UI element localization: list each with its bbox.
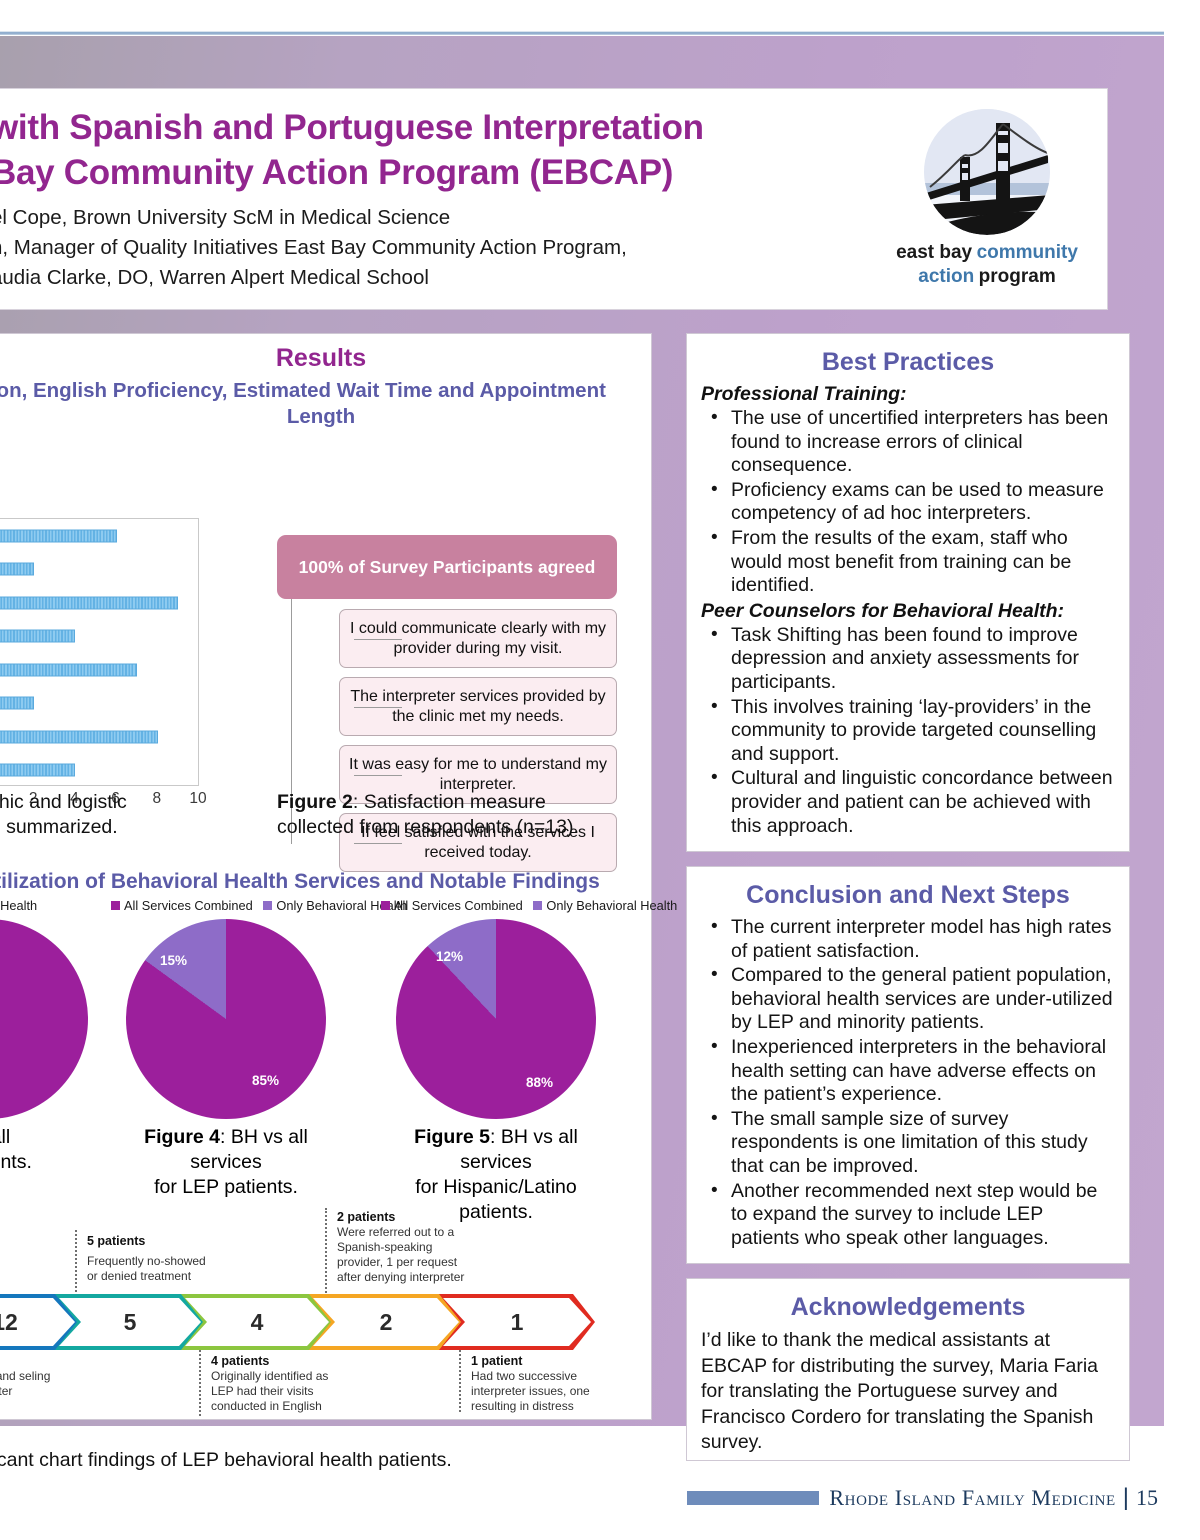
- bar-chart-bar: [0, 630, 75, 643]
- figure-4-small-slice-label: 15%: [160, 953, 187, 968]
- figure-4-pie: 15% 85%: [126, 919, 326, 1119]
- funnel-stage-inner: 1: [443, 1298, 591, 1346]
- conclusion-title: Conclusion and Next Steps: [701, 881, 1115, 910]
- conclusion-bullet: Another recommended next step would be t…: [705, 1180, 1115, 1251]
- best-practices-bullet: From the results of the exam, staff who …: [705, 527, 1115, 598]
- footer-journal-name: Rhode Island Family Medicine: [829, 1485, 1115, 1511]
- survey-agreement-header: 100% of Survey Participants agreed: [277, 535, 617, 599]
- results-title: Results: [0, 344, 651, 373]
- acknowledgements-body: I’d like to thank the medical assistants…: [701, 1328, 1115, 1456]
- funnel-stage-value: 1: [511, 1309, 524, 1336]
- figure-5-small-slice-label: 12%: [436, 949, 463, 964]
- acknowledgements-panel: Acknowledgements I’d like to thank the m…: [686, 1278, 1130, 1461]
- funnel-note-2-body: Were referred out to a Spanish-speaking …: [337, 1225, 469, 1285]
- results-row-one: ggosteded 0246810 100% of Survey Partici…: [0, 430, 651, 790]
- funnel-stage-inner: 12: [0, 1298, 75, 1346]
- bar-chart-bar: [0, 563, 34, 576]
- funnel-note-2: 2 patients Were referred out to a Spanis…: [337, 1210, 469, 1285]
- funnel-stage: 4: [181, 1294, 333, 1350]
- flow-connector-horizontal: [354, 639, 402, 640]
- bar-chart-category-row: d: [0, 687, 198, 721]
- figure-5-legend-b: Only Behavioral Health: [546, 898, 677, 913]
- funnel-stage-inner: 5: [59, 1298, 201, 1346]
- bar-chart-bar: [0, 663, 137, 676]
- figure-4-legend: All Services Combined Only Behavioral He…: [111, 898, 341, 913]
- funnel-stage-inner: 2: [313, 1298, 459, 1346]
- legend-swatch-all-services-icon: [111, 901, 120, 910]
- funnel-leader-1: [459, 1350, 461, 1412]
- results-column: Results sfaction, English Proficiency, E…: [0, 333, 652, 1420]
- figure-5-large-slice-label: 88%: [526, 1075, 553, 1090]
- survey-statement-box: The interpreter services provided by the…: [339, 677, 617, 736]
- best-practices-bullet: Task Shifting has been found to improve …: [705, 624, 1115, 695]
- figure-4-pie-lep: All Services Combined Only Behavioral He…: [111, 898, 341, 1200]
- author-block: el Cope, Brown University ScM in Medical…: [0, 203, 877, 293]
- author-line-3: audia Clarke, DO, Warren Alpert Medical …: [0, 263, 877, 293]
- funnel-leader-5: [75, 1230, 77, 1296]
- figure-4-caption-line-2: for LEP patients.: [111, 1175, 341, 1200]
- author-line-1: el Cope, Brown University ScM in Medical…: [0, 203, 877, 233]
- funnel-stage: 1: [439, 1294, 595, 1350]
- best-practices-subheading-1: Professional Training:: [701, 383, 1115, 406]
- funnel-leader-4: [199, 1350, 201, 1416]
- conclusion-bullet: Inexperienced interpreters in the behavi…: [705, 1036, 1115, 1107]
- footer-rule: [687, 1491, 819, 1505]
- ebcap-logo: east bay community action program: [877, 89, 1107, 309]
- bar-chart-category-row: g: [0, 553, 198, 587]
- best-practices-bullet: Cultural and linguistic concordance betw…: [705, 767, 1115, 838]
- figure-3-caption-line-1: vs all: [0, 1125, 103, 1150]
- survey-statement-box: I could communicate clearly with my prov…: [339, 609, 617, 668]
- figure-5-legend: All Services Combined Only Behavioral He…: [381, 898, 611, 913]
- best-practices-subheading-2: Peer Counselors for Behavioral Health:: [701, 600, 1115, 623]
- funnel-stage-value: 12: [0, 1309, 18, 1336]
- poster-title-line-1: with Spanish and Portuguese Interpretati…: [0, 105, 877, 150]
- author-line-2: n, Manager of Quality Initiatives East B…: [0, 233, 877, 263]
- bar-chart-category-row: st: [0, 620, 198, 654]
- logo-word-action: action: [918, 266, 974, 287]
- conclusion-bullet: The current interpreter model has high r…: [705, 916, 1115, 963]
- header-text-block: with Spanish and Portuguese Interpretati…: [0, 89, 877, 309]
- bar-chart-category-row: e: [0, 720, 198, 754]
- figure-2-caption-label: Figure 2: [277, 791, 353, 813]
- results-subtitle-line-1: sfaction, English Proficiency, Estimated…: [0, 379, 606, 402]
- conclusion-bullet: Compared to the general patient populati…: [705, 964, 1115, 1035]
- funnel-note-2-title: 2 patients: [337, 1210, 395, 1224]
- funnel-leader-2: [325, 1208, 327, 1296]
- bar-chart-category-row: o: [0, 586, 198, 620]
- bar-chart-category-row: d: [0, 754, 198, 788]
- flow-connector-horizontal: [354, 707, 402, 708]
- figure-1-caption-line-2: urvey, summarized.: [0, 815, 229, 840]
- footer-page-number: 15: [1136, 1485, 1158, 1511]
- funnel-stage-inner: 4: [185, 1298, 329, 1346]
- funnel-note-12-body: egular BH and seling using an reter: [0, 1369, 59, 1399]
- bar-chart-bar: [0, 697, 34, 710]
- funnel-note-1-body: Had two successive interpreter issues, o…: [471, 1369, 601, 1414]
- legend-swatch-all-services-icon: [381, 901, 390, 910]
- logo-word-community: community: [977, 242, 1078, 263]
- logo-word-east-bay: east bay: [896, 242, 972, 263]
- conclusion-panel: Conclusion and Next Steps The current in…: [686, 866, 1130, 1264]
- funnel-note-4-title: 4 patients: [211, 1354, 269, 1368]
- results-subtitle-line-2: Length: [0, 404, 651, 430]
- funnel-note-1: 1 patient Had two successive interpreter…: [471, 1354, 601, 1414]
- funnel-note-4-body: Originally identified as LEP had their v…: [211, 1369, 341, 1414]
- figure-4-caption: Figure 4: BH vs all services for LEP pat…: [111, 1125, 341, 1200]
- figure-1-caption: ographic and logistic urvey, summarized.: [0, 790, 229, 840]
- bar-chart-category-row: g: [0, 519, 198, 553]
- figure-4-caption-label: Figure 4: [144, 1126, 220, 1148]
- best-practices-list-2: Task Shifting has been found to improve …: [701, 624, 1115, 838]
- legend-swatch-only-bh-icon: [263, 901, 272, 910]
- funnel-note-4: 4 patients Originally identified as LEP …: [211, 1354, 341, 1414]
- figure-3-caption: vs all ll patients.: [0, 1125, 103, 1175]
- funnel-stage: 2: [309, 1294, 463, 1350]
- funnel-stage-value: 5: [124, 1309, 137, 1336]
- figure-3-pie: [0, 919, 88, 1119]
- conclusion-list: The current interpreter model has high r…: [701, 916, 1115, 1250]
- bar-chart-category-row: e: [0, 653, 198, 687]
- funnel-note-1-title: 1 patient: [471, 1354, 522, 1368]
- bridge-logo-icon: [924, 109, 1050, 235]
- legend-swatch-only-bh-icon: [533, 901, 542, 910]
- figure-3-caption-line-2: ll patients.: [0, 1150, 103, 1175]
- poster-page: with Spanish and Portuguese Interpretati…: [0, 0, 1200, 1540]
- logo-word-program: program: [979, 266, 1056, 287]
- poster-title-line-2: Bay Community Action Program (EBCAP): [0, 150, 877, 195]
- figure-3-pie-clipped: havioral Health vs all ll patients.: [0, 898, 103, 1175]
- figure-5-pie: 12% 88%: [396, 919, 596, 1119]
- page-footer: Rhode Island Family Medicine | 15: [0, 1478, 1200, 1518]
- right-column: Best Practices Professional Training: Th…: [686, 333, 1130, 1475]
- bar-chart-bar: [0, 529, 117, 542]
- results-subtitle: sfaction, English Proficiency, Estimated…: [0, 378, 603, 430]
- footer-separator: |: [1123, 1484, 1129, 1512]
- figure-1-caption-line-1: ographic and logistic: [0, 790, 229, 815]
- funnel-note-5-title: 5 patients: [87, 1234, 145, 1248]
- logo-wordmark: east bay community action program: [896, 241, 1078, 289]
- bar-chart-bar: [0, 730, 158, 743]
- acknowledgements-title: Acknowledgements: [701, 1293, 1115, 1322]
- figure-6-caption: significant chart findings of LEP behavi…: [0, 1448, 651, 1473]
- funnel-note-5-body: Frequently no-showed or denied treatment: [87, 1254, 217, 1284]
- bar-chart-plot-area: ggosteded: [0, 518, 199, 786]
- figure-4-legend-a: All Services Combined: [124, 898, 253, 913]
- funnel-stage: 5: [55, 1294, 205, 1350]
- figure-2-caption: Figure 2: Satisfaction measure collected…: [277, 790, 627, 840]
- funnel-note-12: tients egular BH and seling using an ret…: [0, 1354, 59, 1399]
- bar-chart-bar: [0, 764, 75, 777]
- figure-5-caption-label: Figure 5: [414, 1126, 490, 1148]
- top-rule: [0, 31, 1164, 35]
- figure-3-legend: havioral Health: [0, 898, 103, 913]
- figure-3-legend-label: havioral Health: [0, 898, 37, 913]
- figure-4-large-slice-label: 85%: [252, 1073, 279, 1088]
- best-practices-list-1: The use of uncertified interpreters has …: [701, 407, 1115, 598]
- flow-connector-horizontal: [354, 775, 402, 776]
- pie-chart-row: havioral Health vs all ll patients. All …: [0, 898, 651, 1198]
- best-practices-bullet: This involves training ‘lay-providers’ i…: [705, 696, 1115, 767]
- funnel-stage-value: 2: [380, 1309, 393, 1336]
- best-practices-bullet: Proficiency exams can be used to measure…: [705, 479, 1115, 526]
- best-practices-panel: Best Practices Professional Training: Th…: [686, 333, 1130, 852]
- best-practices-bullet: The use of uncertified interpreters has …: [705, 407, 1115, 478]
- figure-6-funnel-diagram: tients egular BH and seling using an ret…: [0, 1202, 651, 1442]
- figure-5-pie-hispanic: All Services Combined Only Behavioral He…: [381, 898, 611, 1225]
- figure-1-bar-chart: ggosteded 0246810: [0, 518, 241, 828]
- conclusion-bullet: The small sample size of survey responde…: [705, 1108, 1115, 1179]
- funnel-note-5: 5 patients Frequently no-showed or denie…: [87, 1234, 217, 1284]
- bar-chart-bar: [0, 596, 178, 609]
- funnel-stage-value: 4: [251, 1309, 264, 1336]
- best-practices-title: Best Practices: [701, 348, 1115, 377]
- poster-header: with Spanish and Portuguese Interpretati…: [0, 88, 1108, 310]
- figure-5-legend-a: All Services Combined: [394, 898, 523, 913]
